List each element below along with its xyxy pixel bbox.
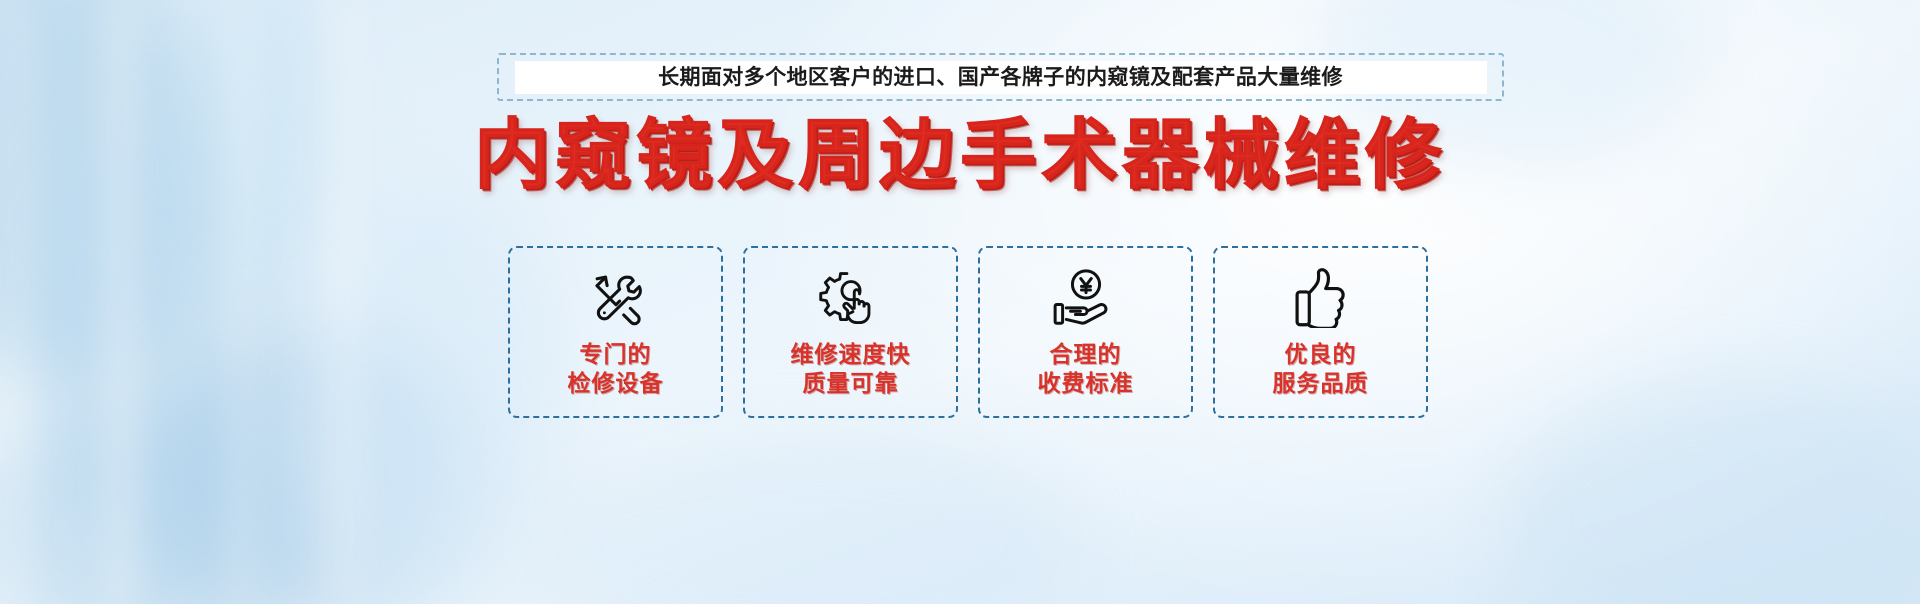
feature-card-service[interactable]: 优良的 服务品质 — [1213, 246, 1428, 418]
feature-card-label: 专门的 检修设备 — [568, 340, 664, 399]
tools-icon — [580, 265, 652, 331]
feature-card-label: 合理的 收费标准 — [1038, 340, 1134, 399]
thumbs-up-icon — [1285, 265, 1357, 331]
gear-hand-click-icon — [815, 265, 887, 331]
page-title: 内窥镜及周边手术器械维修 — [0, 118, 1920, 194]
feature-label-line1: 维修速度快 — [791, 341, 911, 367]
feature-card-speed[interactable]: 维修速度快 质量可靠 — [743, 246, 958, 418]
feature-card-label: 维修速度快 质量可靠 — [791, 340, 911, 399]
feature-label-line2: 质量可靠 — [791, 369, 911, 398]
yen-coin-in-hand-icon — [1050, 265, 1122, 331]
feature-label-line1: 优良的 — [1285, 341, 1357, 367]
tagline-inner-panel: 长期面对多个地区客户的进口、国产各牌子的内窥镜及配套产品大量维修 — [515, 61, 1487, 94]
feature-card-pricing[interactable]: 合理的 收费标准 — [978, 246, 1193, 418]
feature-label-line2: 服务品质 — [1273, 369, 1369, 398]
feature-card-label: 优良的 服务品质 — [1273, 340, 1369, 399]
feature-label-line2: 收费标准 — [1038, 369, 1134, 398]
banner-content: 长期面对多个地区客户的进口、国产各牌子的内窥镜及配套产品大量维修 内窥镜及周边手… — [0, 0, 1920, 604]
promo-banner: 长期面对多个地区客户的进口、国产各牌子的内窥镜及配套产品大量维修 内窥镜及周边手… — [0, 0, 1920, 604]
feature-label-line1: 合理的 — [1050, 341, 1122, 367]
feature-label-line2: 检修设备 — [568, 369, 664, 398]
feature-card-equipment[interactable]: 专门的 检修设备 — [508, 246, 723, 418]
tagline-text: 长期面对多个地区客户的进口、国产各牌子的内窥镜及配套产品大量维修 — [658, 67, 1343, 88]
tagline-box: 长期面对多个地区客户的进口、国产各牌子的内窥镜及配套产品大量维修 — [497, 53, 1504, 101]
feature-label-line1: 专门的 — [580, 341, 652, 367]
feature-card-list: 专门的 检修设备 维修速度快 质量可靠 — [508, 246, 1428, 418]
